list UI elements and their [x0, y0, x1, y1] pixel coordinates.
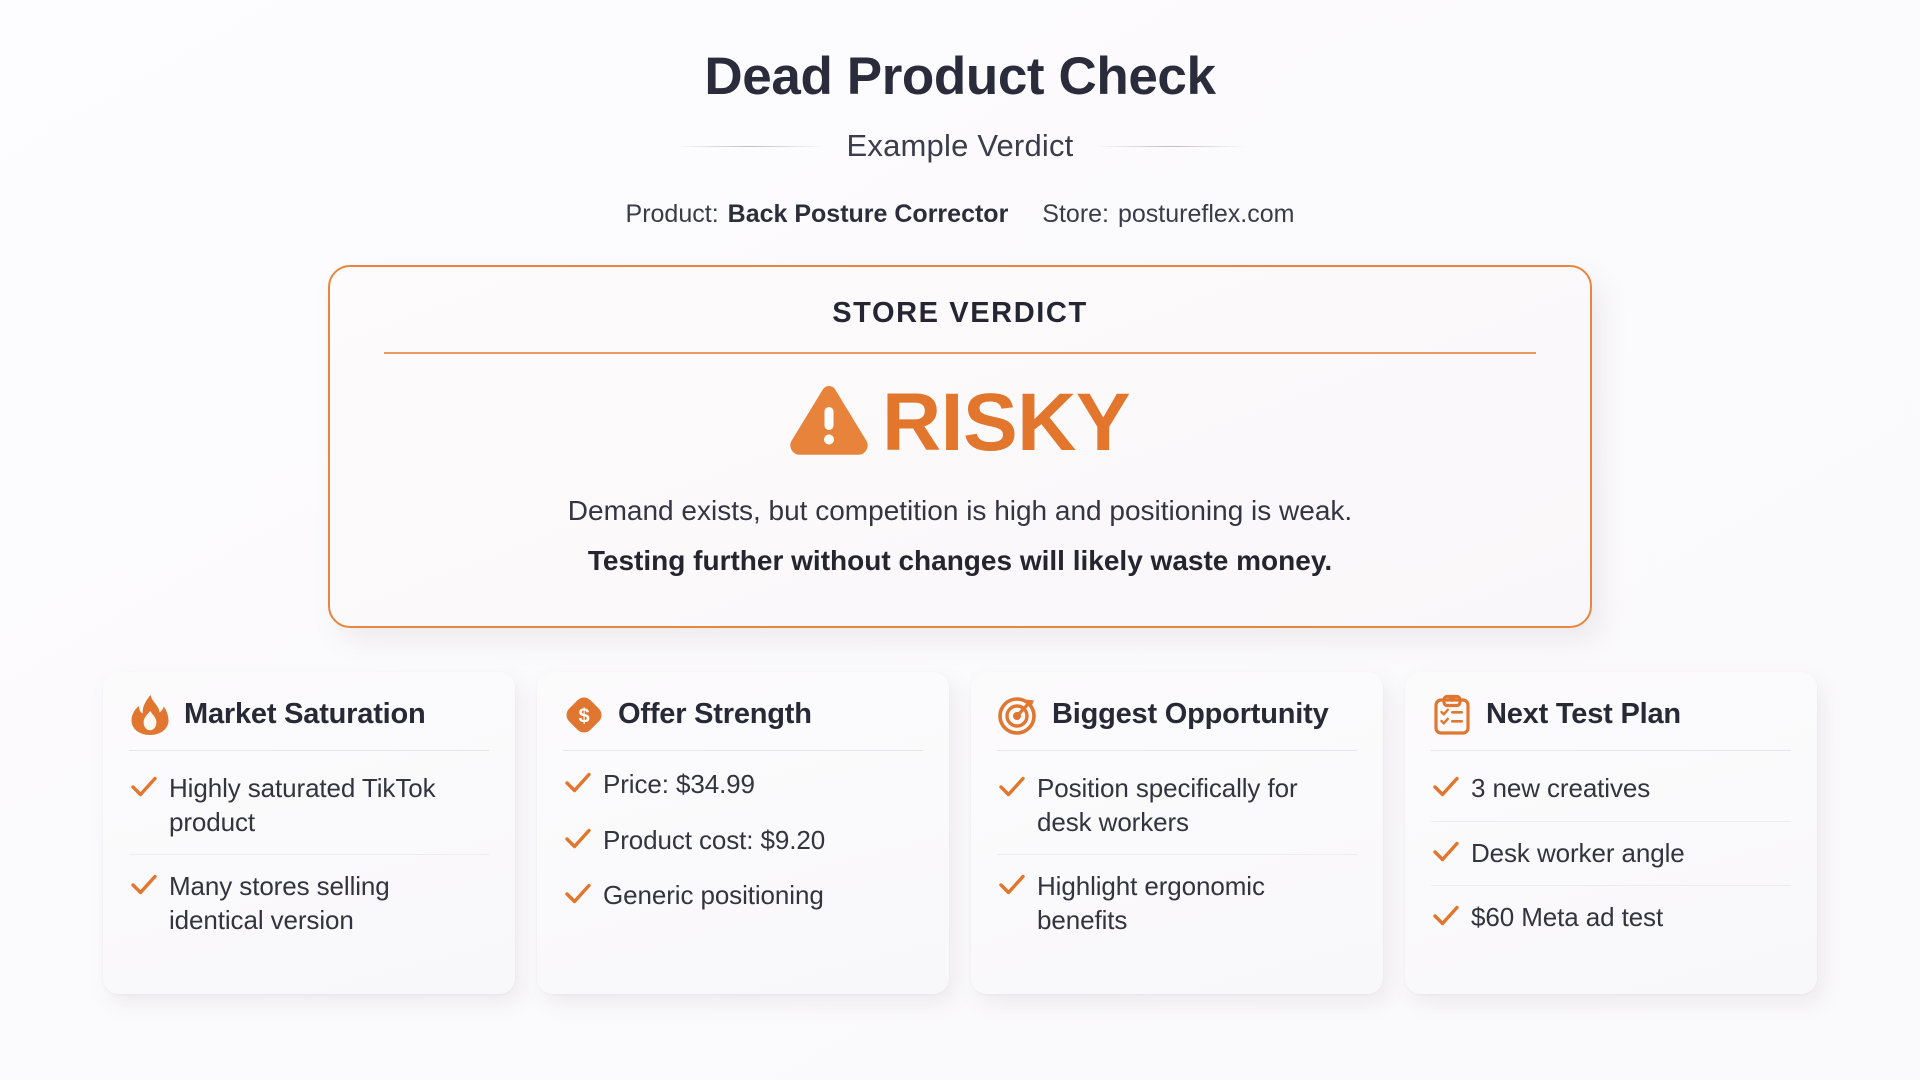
check-icon — [565, 883, 591, 910]
card-next-test-plan: Next Test Plan 3 new creatives — [1405, 672, 1817, 994]
dead-product-check-page: Dead Product Check Example Verdict Produ… — [0, 0, 1920, 1080]
card-title: Market Saturation — [184, 698, 426, 731]
verdict-section: STORE VERDICT RISKY Demand exists, but c… — [0, 265, 1920, 628]
check-icon — [999, 776, 1025, 803]
check-icon — [1433, 905, 1459, 932]
card-title: Offer Strength — [618, 698, 812, 731]
list-item-text: $60 Meta ad test — [1471, 901, 1663, 935]
store-label: Store: — [1042, 200, 1109, 229]
product-name: Back Posture Corrector — [728, 200, 1009, 229]
card-header: $ Offer Strength — [563, 694, 923, 750]
card-offer-strength: $ Offer Strength Price: $34.99 — [537, 672, 949, 994]
svg-text:$: $ — [578, 705, 589, 727]
list-item: Price: $34.99 — [563, 757, 923, 813]
check-icon — [1433, 776, 1459, 803]
list-item-text: 3 new creatives — [1471, 772, 1650, 806]
list-item-text: Highlight ergonomic benefits — [1037, 870, 1357, 938]
card-header: Market Saturation — [129, 694, 489, 750]
product-meta-row: Product: Back Posture Corrector Store: p… — [0, 200, 1920, 229]
card-biggest-opportunity: Biggest Opportunity Position specificall… — [971, 672, 1383, 994]
card-title: Biggest Opportunity — [1052, 698, 1329, 731]
subtitle-rule-left — [675, 146, 825, 147]
list-item-text: Desk worker angle — [1471, 837, 1685, 871]
store-name: postureflex.com — [1118, 200, 1294, 229]
list-item: 3 new creatives — [1431, 757, 1791, 821]
list-item: Many stores selling identical version — [129, 854, 489, 953]
list-item: $60 Meta ad test — [1431, 885, 1791, 950]
list-item-text: Price: $34.99 — [603, 768, 755, 802]
check-icon — [565, 772, 591, 799]
target-icon — [997, 694, 1039, 736]
subtitle-rule-right — [1096, 146, 1246, 147]
verdict-badge: RISKY — [370, 382, 1550, 464]
list-item: Product cost: $9.20 — [563, 813, 923, 869]
list-item-text: Many stores selling identical version — [169, 870, 489, 938]
card-header-divider — [1431, 750, 1791, 751]
subtitle-row: Example Verdict — [0, 128, 1920, 164]
check-icon — [131, 874, 157, 901]
verdict-description-line2: Testing further without changes will lik… — [370, 540, 1550, 582]
card-header: Biggest Opportunity — [997, 694, 1357, 750]
card-item-list: 3 new creatives Desk worker angle — [1431, 757, 1791, 950]
warning-triangle-icon — [790, 385, 868, 460]
check-icon — [1433, 841, 1459, 868]
card-item-list: Position specifically for desk workers H… — [997, 757, 1357, 953]
check-icon — [131, 776, 157, 803]
list-item: Highlight ergonomic benefits — [997, 854, 1357, 953]
list-item-text: Position specifically for desk workers — [1037, 772, 1357, 840]
card-market-saturation: Market Saturation Highly saturated TikTo… — [103, 672, 515, 994]
card-header-divider — [129, 750, 489, 751]
check-icon — [565, 828, 591, 855]
verdict-section-title: STORE VERDICT — [370, 297, 1550, 330]
list-item: Generic positioning — [563, 868, 923, 924]
money-bag-icon: $ — [563, 694, 605, 736]
card-header-divider — [563, 750, 923, 751]
check-icon — [999, 874, 1025, 901]
verdict-status: RISKY — [882, 382, 1130, 464]
list-item: Desk worker angle — [1431, 821, 1791, 886]
card-header-divider — [997, 750, 1357, 751]
clipboard-checklist-icon — [1431, 694, 1473, 736]
card-header: Next Test Plan — [1431, 694, 1791, 750]
fire-icon — [129, 694, 171, 736]
page-header: Dead Product Check Example Verdict Produ… — [0, 0, 1920, 229]
verdict-description-line1: Demand exists, but competition is high a… — [370, 490, 1550, 532]
list-item: Position specifically for desk workers — [997, 757, 1357, 855]
card-item-list: Price: $34.99 Product cost: $9.20 — [563, 757, 923, 924]
card-title: Next Test Plan — [1486, 698, 1681, 731]
page-subtitle: Example Verdict — [847, 128, 1074, 164]
list-item-text: Product cost: $9.20 — [603, 824, 825, 858]
insight-cards-grid: Market Saturation Highly saturated TikTo… — [0, 672, 1920, 994]
product-label: Product: — [626, 200, 719, 229]
list-item-text: Highly saturated TikTok product — [169, 772, 489, 840]
page-title: Dead Product Check — [0, 48, 1920, 106]
card-item-list: Highly saturated TikTok product Many sto… — [129, 757, 489, 953]
verdict-divider — [384, 352, 1536, 354]
store-verdict-card: STORE VERDICT RISKY Demand exists, but c… — [328, 265, 1592, 628]
list-item: Highly saturated TikTok product — [129, 757, 489, 855]
list-item-text: Generic positioning — [603, 879, 824, 913]
